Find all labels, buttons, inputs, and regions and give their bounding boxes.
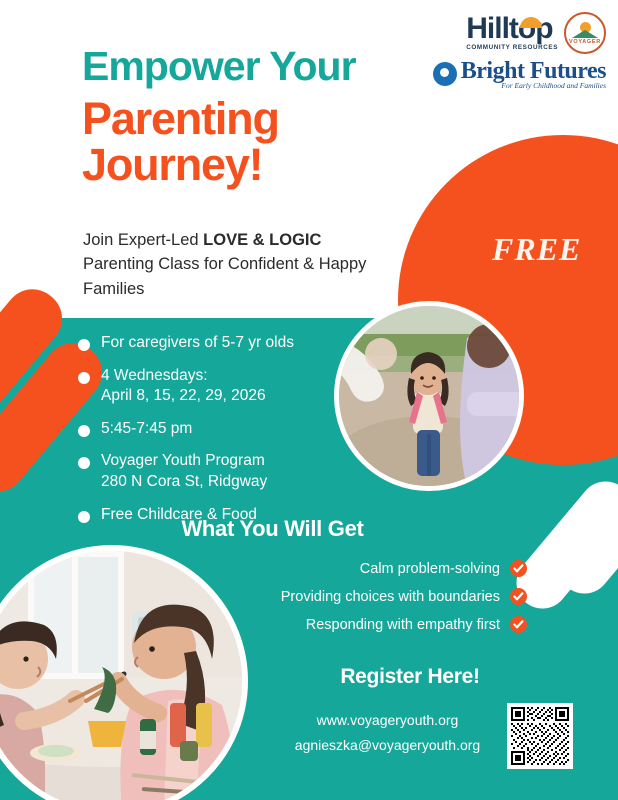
hilltop-name: Hilltop [466, 12, 552, 45]
check-icon [510, 588, 527, 605]
check-icon [510, 560, 527, 577]
bullet-text: Voyager Youth Program 280 N Cora St, Rid… [101, 451, 267, 492]
bright-futures-logo: Bright Futures For Early Childhood and F… [416, 59, 606, 90]
subheading-rest: Parenting Class for Confident & Happy Fa… [83, 255, 366, 297]
sun-icon [520, 17, 542, 28]
logo-row-top: Hilltop COMMUNITY RESOURCES VOYAGER [416, 12, 606, 54]
list-item: 5:45-7:45 pm [78, 419, 353, 440]
flyer-root: Hilltop COMMUNITY RESOURCES VOYAGER Brig… [0, 0, 618, 800]
website-link[interactable]: www.voyageryouth.org [270, 708, 505, 733]
hilltop-wordmark: Hilltop [466, 14, 552, 44]
subheading-emphasis: LOVE & LOGIC [203, 231, 321, 249]
hilltop-tagline: COMMUNITY RESOURCES [466, 45, 558, 51]
bullet-dot-icon [78, 339, 90, 351]
contact-block: www.voyageryouth.org agnieszka@voyageryo… [270, 708, 505, 757]
benefit-label: Responding with empathy first [306, 617, 500, 633]
bullet-dot-icon [78, 457, 90, 469]
list-item: Responding with empathy first [0, 616, 545, 633]
list-item: Calm problem-solving [0, 560, 545, 577]
bright-futures-swirl-icon [433, 62, 457, 86]
subheading: Join Expert-Led LOVE & LOGIC Parenting C… [83, 228, 383, 301]
headline-line-3: Journey! [82, 142, 422, 188]
photo-top-art [339, 306, 519, 486]
list-item: Providing choices with boundaries [0, 588, 545, 605]
bullet-dot-icon [78, 372, 90, 384]
free-badge: FREE [492, 231, 581, 268]
headline-line-2: Parenting [82, 96, 422, 142]
bullet-text: 4 Wednesdays: April 8, 15, 22, 29, 2026 [101, 366, 266, 407]
list-item: For caregivers of 5-7 yr olds [78, 333, 353, 354]
bullet-text: For caregivers of 5-7 yr olds [101, 333, 294, 354]
bullet-line-1: Voyager Youth Program [101, 452, 265, 469]
qr-code[interactable] [507, 703, 573, 769]
bright-futures-text: Bright Futures For Early Childhood and F… [461, 59, 606, 90]
benefit-label: Providing choices with boundaries [281, 589, 500, 605]
register-title: Register Here! [285, 665, 535, 689]
bright-futures-name: Bright Futures [461, 59, 606, 83]
voyager-name: VOYAGER [569, 39, 601, 45]
benefits-title: What You Will Get [0, 516, 545, 542]
details-bullet-list: For caregivers of 5-7 yr olds 4 Wednesda… [78, 333, 353, 537]
hilltop-logo: Hilltop COMMUNITY RESOURCES [466, 14, 558, 51]
list-item: 4 Wednesdays: April 8, 15, 22, 29, 2026 [78, 366, 353, 407]
subheading-prefix: Join Expert-Led [83, 231, 203, 249]
child-greeting-parent-photo [334, 301, 524, 491]
bullet-dot-icon [78, 425, 90, 437]
benefits-list: Calm problem-solving Providing choices w… [0, 560, 545, 644]
voyager-mountain-icon [572, 30, 598, 38]
qr-code-art [511, 707, 569, 765]
benefit-label: Calm problem-solving [360, 561, 500, 577]
bullet-line-2: 280 N Cora St, Ridgway [101, 473, 267, 490]
voyager-logo: VOYAGER [564, 12, 606, 54]
logo-group: Hilltop COMMUNITY RESOURCES VOYAGER Brig… [416, 12, 606, 90]
check-icon [510, 616, 527, 633]
headline-line-1: Empower Your [82, 46, 422, 87]
headline-block: Empower Your Parenting Journey! [82, 46, 422, 188]
email-link[interactable]: agnieszka@voyageryouth.org [270, 733, 505, 758]
bullet-line-1: For caregivers of 5-7 yr olds [101, 334, 294, 351]
bullet-line-2: April 8, 15, 22, 29, 2026 [101, 387, 266, 404]
bullet-line-1: 5:45-7:45 pm [101, 420, 192, 437]
bullet-text: 5:45-7:45 pm [101, 419, 192, 440]
list-item: Voyager Youth Program 280 N Cora St, Rid… [78, 451, 353, 492]
bullet-line-1: 4 Wednesdays: [101, 367, 208, 384]
